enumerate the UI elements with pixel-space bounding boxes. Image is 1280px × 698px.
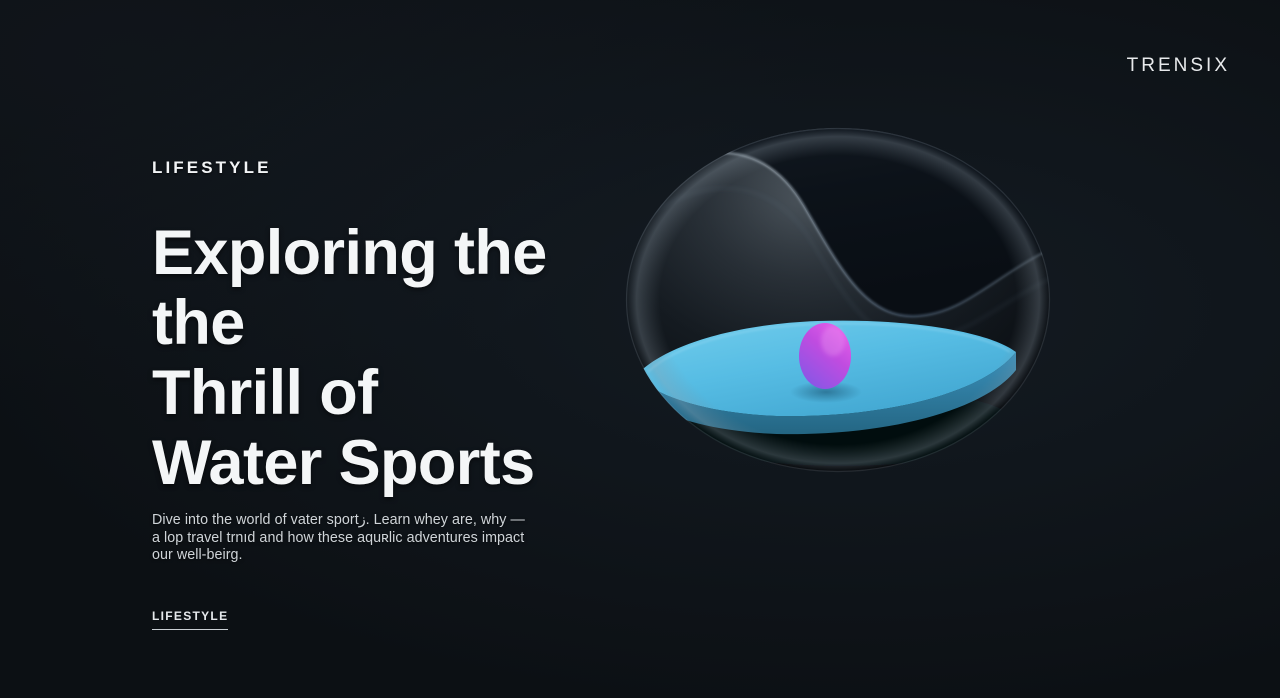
headline-line-4: Water Sports (152, 428, 622, 498)
hero-description: Dive into the world of vater sportز. Lea… (152, 512, 592, 565)
headline-line-2: the (152, 288, 622, 358)
hero-illustration (618, 120, 1058, 480)
sphere-rim-light (626, 128, 1050, 472)
headline-line-1: Exploring the (152, 218, 622, 288)
headline-line-3: Thrill of (152, 358, 622, 428)
hero-eyebrow-label: LIFESTYLE (152, 158, 622, 178)
hero-description-line-1: Dive into the world of vater sportز. Lea… (152, 512, 592, 530)
hero-content: LIFESTYLE Exploring the the Thrill of Wa… (152, 158, 622, 630)
category-link-lifestyle[interactable]: LIFESTYLE (152, 609, 228, 630)
water-sports-3d-scene-svg (618, 120, 1058, 480)
hero-description-line-3: our well-beirg. (152, 547, 592, 565)
brand-logo[interactable]: TRENSIX (1127, 55, 1230, 77)
hero-description-line-2: a lop travel trnıd and how these aquʀlic… (152, 530, 592, 548)
page-title: Exploring the the Thrill of Water Sports (152, 218, 622, 498)
